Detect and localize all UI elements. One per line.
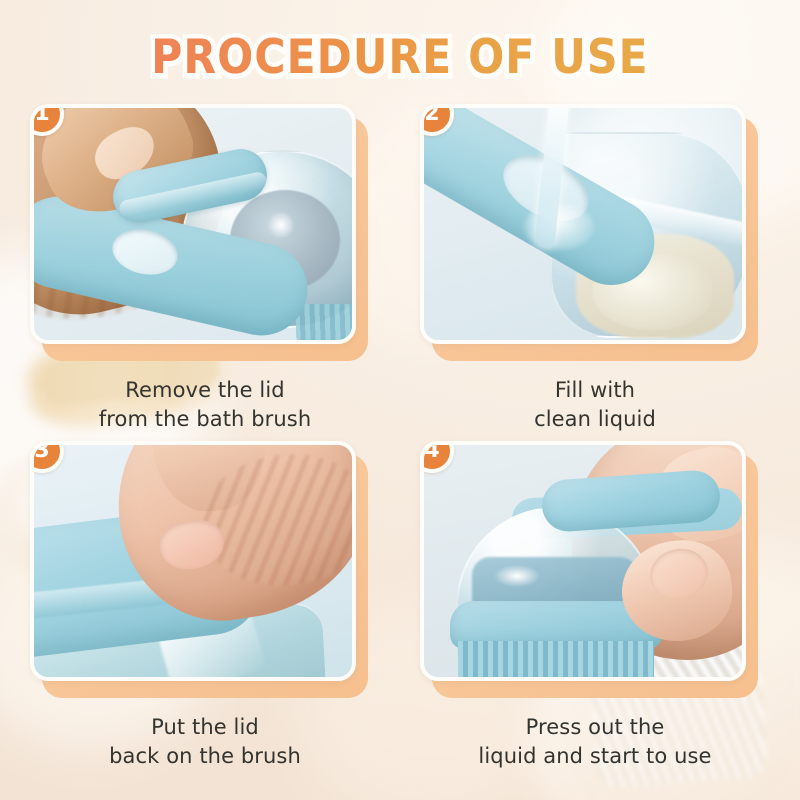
caption-line-1: Press out the [526, 715, 665, 739]
water-splash [524, 204, 594, 250]
caption-line-1: Remove the lid [125, 378, 284, 402]
step-card-3: 3 Put the lid back on the brush [30, 441, 380, 771]
infographic-page: PROCEDURE OF USEPROCEDURE OF USE [0, 0, 800, 800]
page-title-gradient: PROCEDURE OF USE [151, 34, 648, 81]
step-caption-1: Remove the lid from the bath brush [30, 376, 380, 434]
photo-artwork [424, 108, 742, 340]
caption-line-1: Put the lid [151, 715, 259, 739]
photo-frame: 3 [30, 441, 360, 689]
brush-bristles [458, 641, 654, 677]
page-title: PROCEDURE OF USEPROCEDURE OF USE [151, 34, 648, 81]
step-caption-4: Press out the liquid and start to use [420, 713, 770, 771]
step-card-2: 2 Fill with clean liquid [420, 104, 770, 434]
brush-bristles [296, 304, 352, 340]
caption-line-2: liquid and start to use [420, 742, 770, 771]
step-card-1: 1 Remove the lid from the bath brush [30, 104, 380, 434]
step-caption-3: Put the lid back on the brush [30, 713, 380, 771]
photo-artwork [424, 445, 742, 677]
step-photo-1: 1 [30, 104, 356, 344]
steps-grid: 1 Remove the lid from the bath brush [0, 104, 800, 794]
photo-frame: 2 [420, 104, 750, 352]
step-photo-3: 3 [30, 441, 356, 681]
step-photo-4: 4 [420, 441, 746, 681]
caption-line-1: Fill with [555, 378, 635, 402]
photo-artwork [34, 445, 352, 677]
dome-highlight [494, 565, 540, 587]
caption-line-2: clean liquid [420, 405, 770, 434]
step-photo-2: 2 [420, 104, 746, 344]
photo-frame: 1 [30, 104, 360, 352]
photo-artwork [34, 108, 352, 340]
page-title-container: PROCEDURE OF USEPROCEDURE OF USE [0, 34, 800, 81]
photo-frame: 4 [420, 441, 750, 689]
step-card-4: 4 Press out the liquid and start to use [420, 441, 770, 771]
caption-line-2: from the bath brush [30, 405, 380, 434]
dome-highlight [266, 212, 296, 238]
caption-line-2: back on the brush [30, 742, 380, 771]
step-caption-2: Fill with clean liquid [420, 376, 770, 434]
